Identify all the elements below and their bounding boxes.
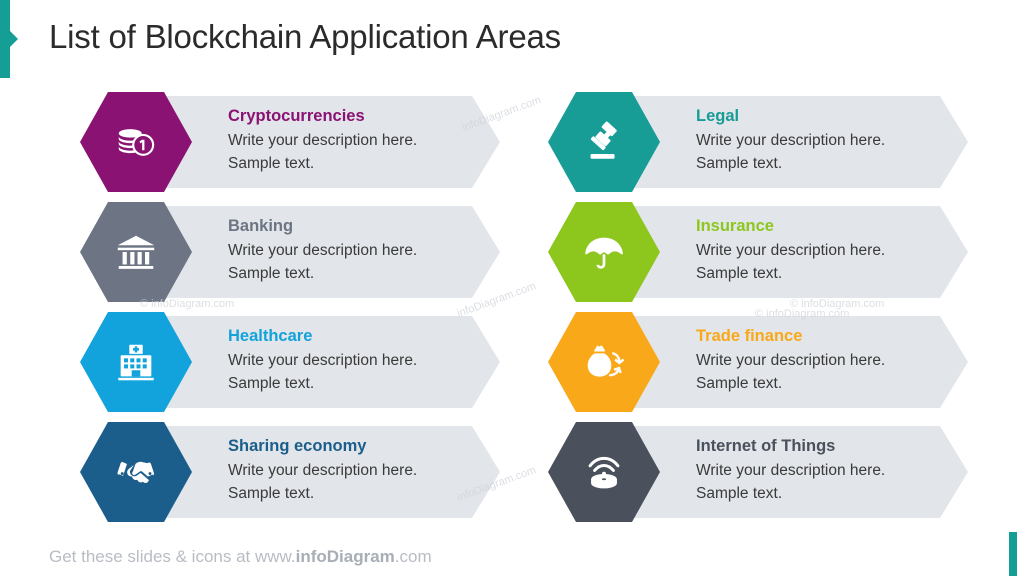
- item-title: Cryptocurrencies: [228, 106, 508, 127]
- list-item-healthcare[interactable]: Healthcare Write your description here. …: [80, 312, 500, 412]
- item-title: Internet of Things: [696, 436, 976, 457]
- item-description-line-2: Sample text.: [696, 482, 976, 505]
- footer-brand: infoDiagram: [296, 547, 395, 566]
- list-item-trade-finance[interactable]: Trade finance Write your description her…: [548, 312, 968, 412]
- item-text-block: Sharing economy Write your description h…: [228, 436, 508, 505]
- item-title: Insurance: [696, 216, 976, 237]
- item-title: Legal: [696, 106, 976, 127]
- item-description-line-1: Write your description here.: [228, 239, 508, 262]
- item-description-line-2: Sample text.: [696, 262, 976, 285]
- item-description-line-2: Sample text.: [228, 262, 508, 285]
- item-description-line-2: Sample text.: [228, 482, 508, 505]
- footer-suffix: .com: [395, 547, 432, 566]
- iot-signal-icon: [581, 449, 627, 495]
- left-accent-notch-icon: [10, 31, 18, 47]
- item-text-block: Cryptocurrencies Write your description …: [228, 106, 508, 175]
- item-title: Sharing economy: [228, 436, 508, 457]
- item-title: Trade finance: [696, 326, 976, 347]
- bank-building-icon: [113, 229, 159, 275]
- item-description-line-2: Sample text.: [696, 152, 976, 175]
- item-description-line-1: Write your description here.: [696, 349, 976, 372]
- bottom-right-accent-bar: [1009, 532, 1017, 576]
- hospital-icon: [113, 339, 159, 385]
- item-text-block: Healthcare Write your description here. …: [228, 326, 508, 395]
- item-description-line-1: Write your description here.: [696, 129, 976, 152]
- gavel-icon: [581, 119, 627, 165]
- item-text-block: Banking Write your description here. Sam…: [228, 216, 508, 285]
- list-item-legal[interactable]: Legal Write your description here. Sampl…: [548, 92, 968, 192]
- page-title: List of Blockchain Application Areas: [49, 18, 561, 56]
- item-title: Banking: [228, 216, 508, 237]
- money-bag-exchange-icon: [581, 339, 627, 385]
- footer-prefix: Get these slides & icons at www.: [49, 547, 296, 566]
- left-accent-bar: [0, 0, 10, 78]
- coin-stack-icon: [113, 119, 159, 165]
- list-item-internet-of-things[interactable]: Internet of Things Write your descriptio…: [548, 422, 968, 522]
- item-text-block: Internet of Things Write your descriptio…: [696, 436, 976, 505]
- item-text-block: Insurance Write your description here. S…: [696, 216, 976, 285]
- item-text-block: Trade finance Write your description her…: [696, 326, 976, 395]
- handshake-icon: [113, 449, 159, 495]
- item-description-line-1: Write your description here.: [228, 129, 508, 152]
- list-item-banking[interactable]: Banking Write your description here. Sam…: [80, 202, 500, 302]
- footer-credit: Get these slides & icons at www.infoDiag…: [49, 547, 432, 567]
- item-description-line-1: Write your description here.: [228, 349, 508, 372]
- item-description-line-2: Sample text.: [228, 372, 508, 395]
- item-description-line-2: Sample text.: [696, 372, 976, 395]
- item-description-line-1: Write your description here.: [696, 239, 976, 262]
- item-title: Healthcare: [228, 326, 508, 347]
- application-areas-grid: Cryptocurrencies Write your description …: [0, 92, 1024, 532]
- item-text-block: Legal Write your description here. Sampl…: [696, 106, 976, 175]
- list-item-sharing-economy[interactable]: Sharing economy Write your description h…: [80, 422, 500, 522]
- list-item-cryptocurrencies[interactable]: Cryptocurrencies Write your description …: [80, 92, 500, 192]
- umbrella-icon: [581, 229, 627, 275]
- item-description-line-1: Write your description here.: [696, 459, 976, 482]
- list-item-insurance[interactable]: Insurance Write your description here. S…: [548, 202, 968, 302]
- item-description-line-2: Sample text.: [228, 152, 508, 175]
- item-description-line-1: Write your description here.: [228, 459, 508, 482]
